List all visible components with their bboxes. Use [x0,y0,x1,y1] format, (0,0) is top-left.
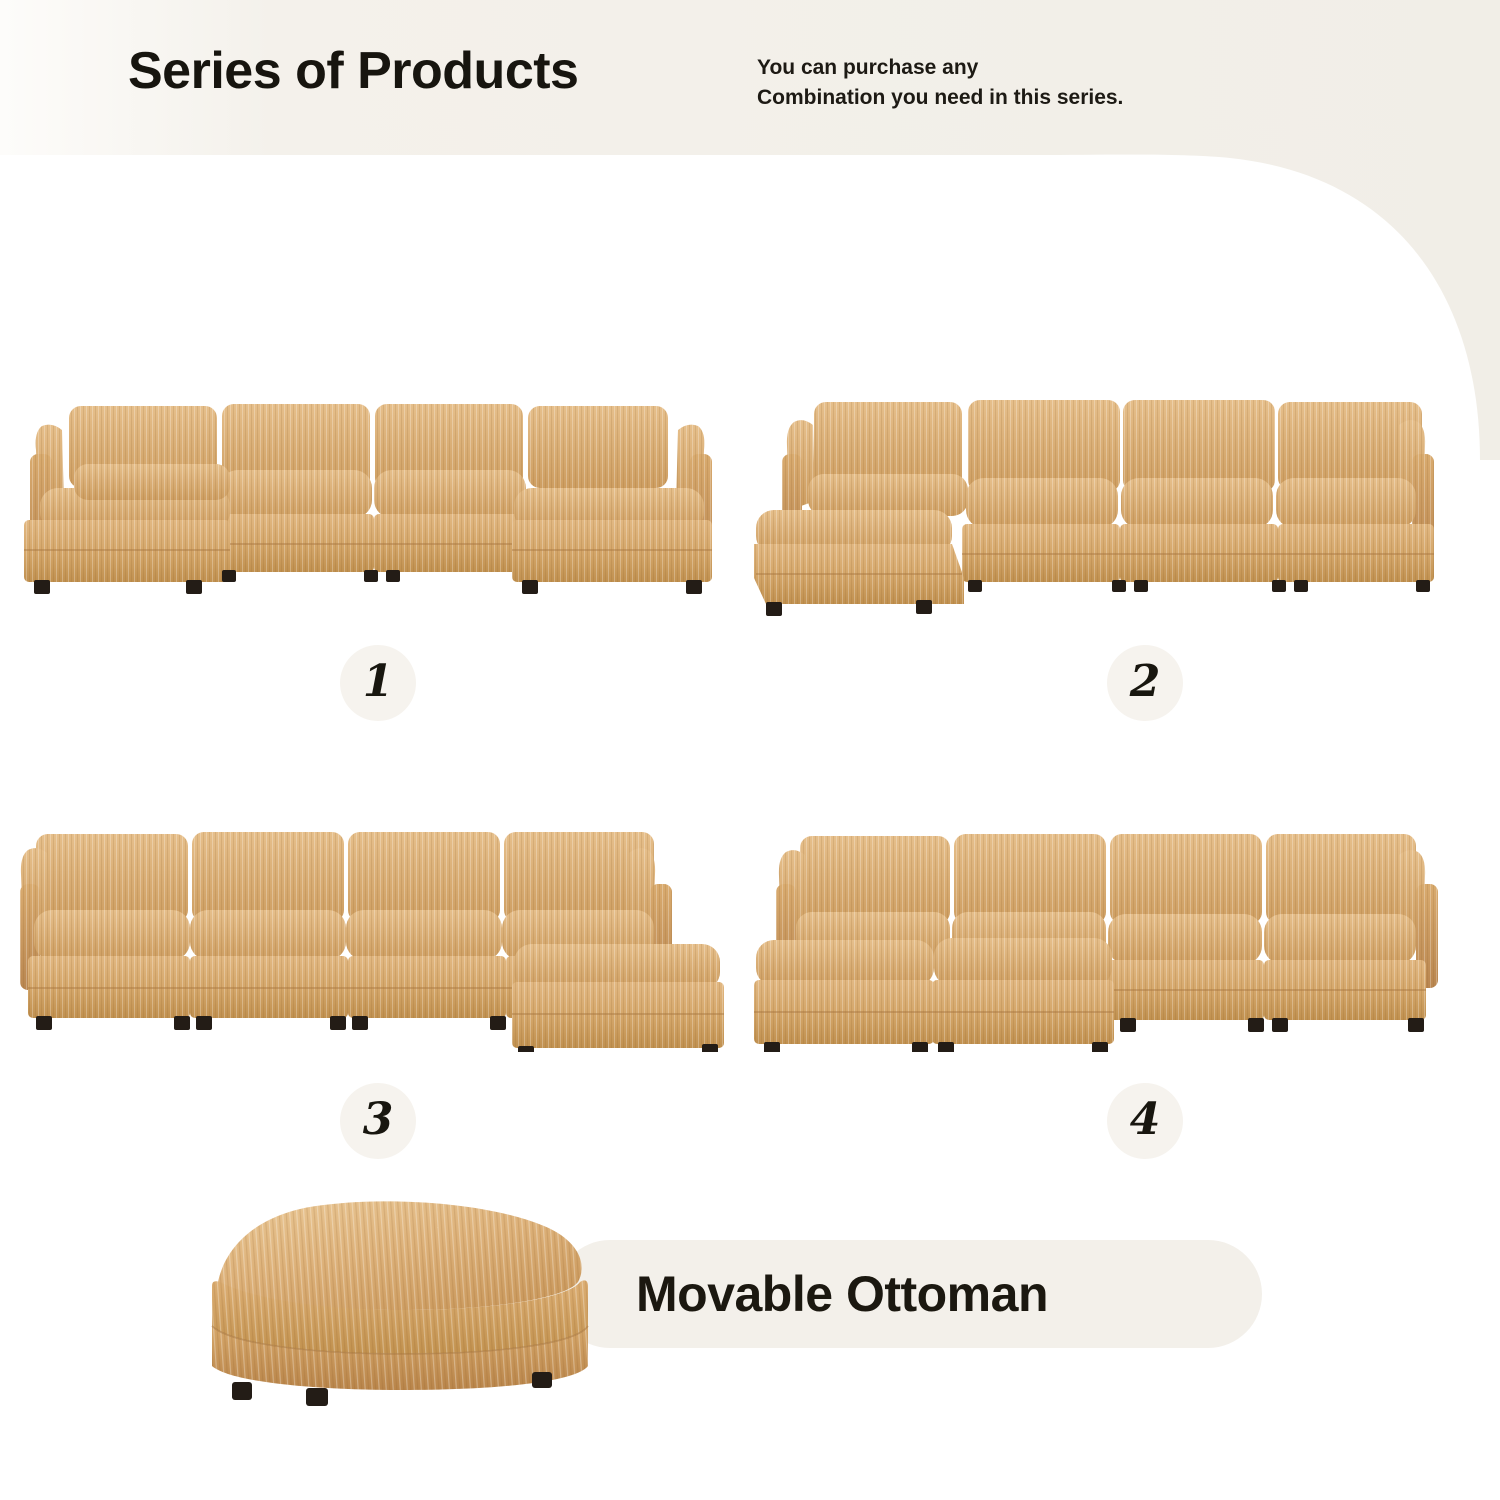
config-1-badge: 1 [340,645,416,721]
config-2-illustration [752,392,1464,618]
product-series-infographic: Series of Products You can purchase any … [0,0,1500,1500]
config-2-badge: 2 [1107,645,1183,721]
movable-ottoman-label: Movable Ottoman [636,1265,1048,1323]
ottoman-illustration [196,1186,596,1406]
configuration-4[interactable] [752,822,1464,1052]
header: Series of Products You can purchase any … [0,0,1500,160]
config-3-badge: 3 [340,1083,416,1159]
config-1-badge-number: 1 [363,660,394,704]
config-4-badge: 4 [1107,1083,1183,1159]
config-3-badge-number: 3 [363,1098,394,1142]
header-subtitle: You can purchase any Combination you nee… [757,53,1123,113]
config-4-illustration [752,822,1464,1052]
page-title: Series of Products [128,41,578,101]
configuration-2[interactable] [752,392,1464,618]
config-2-badge-number: 2 [1130,660,1161,704]
config-4-badge-number: 4 [1130,1098,1161,1142]
configuration-3[interactable] [14,822,726,1052]
config-1-illustration [14,392,726,618]
movable-ottoman-image[interactable] [196,1186,596,1406]
movable-ottoman-banner: Movable Ottoman [556,1240,1262,1348]
config-3-illustration [14,822,726,1052]
configuration-1[interactable] [14,392,726,618]
